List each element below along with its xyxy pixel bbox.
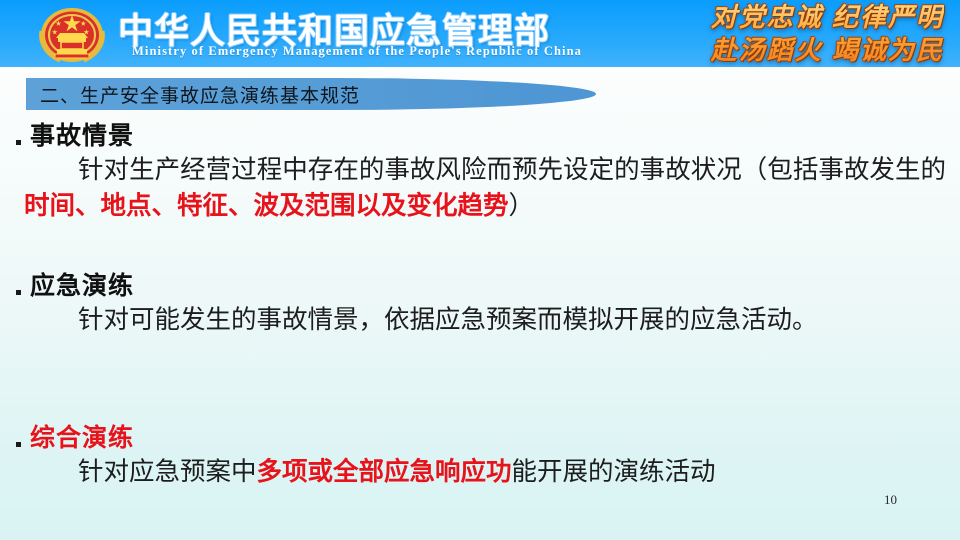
slogan-line-1: 对党忠诚 纪律严明 [711,1,944,34]
content-block-comprehensive-drill: 综合演练 针对应急预案中多项或全部应急响应功能开展的演练活动 [0,424,960,490]
block-heading: 应急演练 [30,272,134,302]
paragraph-part: 针对可能发生的事故情景，依据应急预案而模拟开展的应急活动。 [78,305,818,334]
heading-row: 综合演练 [0,424,960,454]
heading-row: 事故情景 [0,122,960,152]
slide: 中华人民共和国应急管理部 Ministry of Emergency Manag… [0,0,960,540]
block-heading: 事故情景 [30,122,134,152]
banner-slogan: 对党忠诚 纪律严明 赴汤蹈火 竭诚为民 [711,1,944,67]
square-bullet-icon [16,290,21,295]
paragraph-part-highlight: 时间、地点、特征、波及范围以及变化趋势 [24,191,509,220]
block-paragraph: 针对生产经营过程中存在的事故风险而预先设定的事故状况（包括事故发生的时间、地点、… [0,152,960,224]
header-banner: 中华人民共和国应急管理部 Ministry of Emergency Manag… [0,0,960,67]
paragraph-part: ） [509,191,535,220]
slogan-line-2: 赴汤蹈火 竭诚为民 [711,34,944,67]
block-heading: 综合演练 [30,424,134,454]
content-block-accident-scenario: 事故情景 针对生产经营过程中存在的事故风险而预先设定的事故状况（包括事故发生的时… [0,122,960,224]
page-number: 10 [884,492,897,508]
paragraph-part: 能开展的演练活动 [512,457,716,486]
banner-subtitle: Ministry of Emergency Management of the … [132,44,582,59]
block-paragraph: 针对可能发生的事故情景，依据应急预案而模拟开展的应急活动。 [0,302,960,338]
content-block-emergency-drill: 应急演练 针对可能发生的事故情景，依据应急预案而模拟开展的应急活动。 [0,272,960,338]
section-title-text: 二、生产安全事故应急演练基本规范 [26,81,360,108]
paragraph-part: 针对生产经营过程中存在的事故风险而预先设定的事故状况（包括事故发生的 [78,155,946,184]
square-bullet-icon [16,442,21,447]
paragraph-part-highlight: 多项或全部应急响应功 [257,457,512,486]
china-national-emblem-icon [38,7,106,64]
block-paragraph: 针对应急预案中多项或全部应急响应功能开展的演练活动 [0,454,960,490]
square-bullet-icon [16,140,21,145]
paragraph-part: 针对应急预案中 [78,457,257,486]
section-title-bar: 二、生产安全事故应急演练基本规范 [26,78,596,110]
heading-row: 应急演练 [0,272,960,302]
